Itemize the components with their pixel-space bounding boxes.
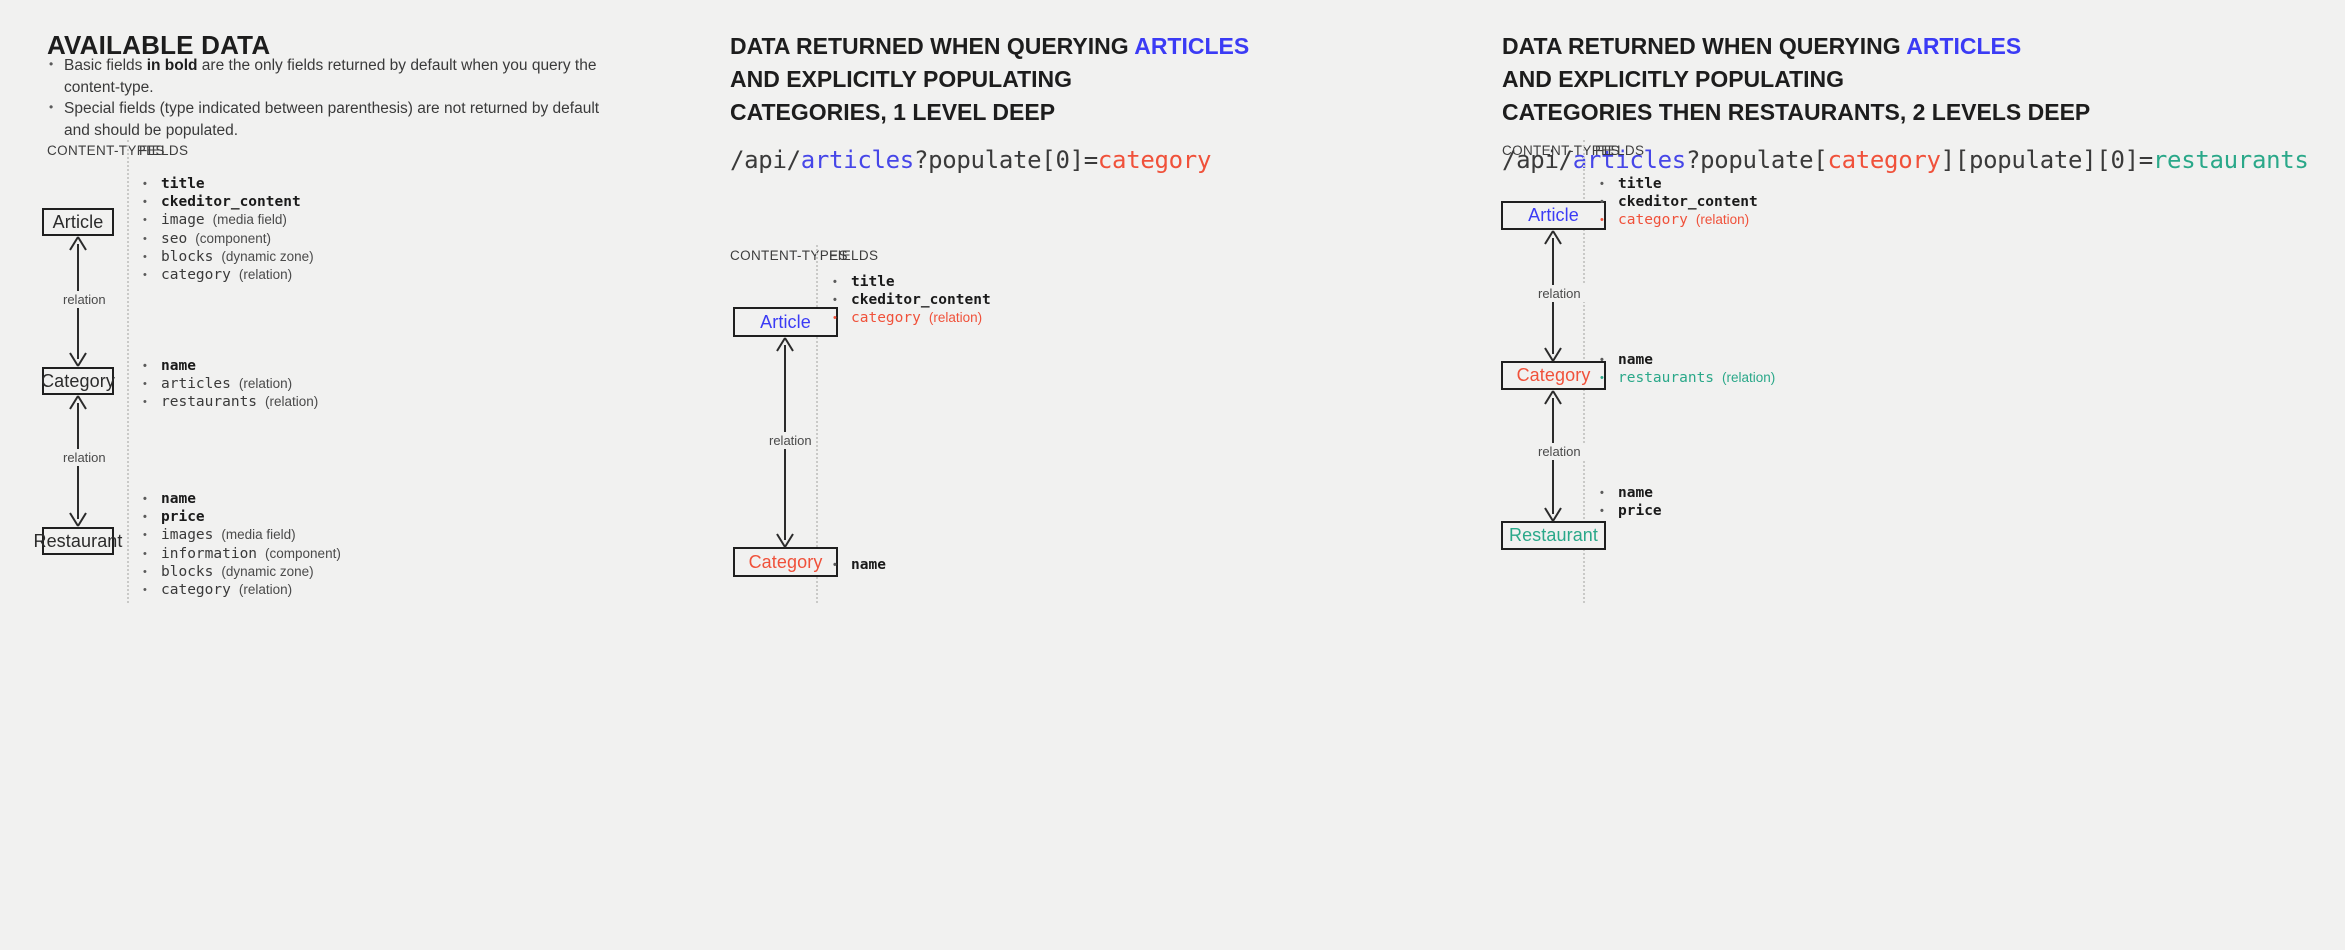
caption-fields: FIELDS [1595,143,1644,158]
field-row: name [1598,352,1775,370]
caption-fields: FIELDS [139,143,188,158]
heading-line-2: AND EXPLICITLY POPULATING [730,63,1249,96]
heading-line-3: CATEGORIES THEN RESTAURANTS, 2 LEVELS DE… [1502,96,2090,129]
entity-box-article[interactable]: Article [42,208,114,236]
field-row: images(media field) [141,527,341,545]
field-row: blocks(dynamic zone) [141,249,314,267]
intro-bullets: Basic fields in bold are the only fields… [47,55,647,141]
relation-label-1: relation [59,291,110,308]
entity-box-article[interactable]: Article [1501,201,1606,230]
field-row: ckeditor_content [831,292,991,310]
panel-query-2-levels: DATA RETURNED WHEN QUERYING ARTICLES AND… [1490,0,2345,950]
entity-box-category[interactable]: Category [42,367,114,395]
field-group-article: title ckeditor_content image(media field… [141,176,314,285]
heading-line-3: CATEGORIES, 1 LEVEL DEEP [730,96,1249,129]
field-row: ckeditor_content [1598,194,1758,212]
relation-label-2: relation [59,449,110,466]
intro-bullet-1-pre: Basic fields [64,57,147,74]
api-seg-base: /api/ [730,146,801,174]
entity-box-article[interactable]: Article [733,307,838,337]
field-row: price [1598,503,1662,521]
entity-box-category[interactable]: Category [1501,361,1606,390]
entity-box-category[interactable]: Category [733,547,838,577]
api-seg-populate-open: ?populate[ [1686,146,1828,174]
intro-bullet-1: Basic fields in bold are the only fields… [47,55,647,98]
field-row: information(component) [141,546,341,564]
diagram-canvas: AVAILABLE DATA Basic fields in bold are … [0,0,2345,950]
api-seg-populate: ?populate[0]= [914,146,1098,174]
field-group-restaurant: name price images(media field) informati… [141,491,341,600]
panel-query-1-level: DATA RETURNED WHEN QUERYING ARTICLES AND… [725,0,1445,950]
caption-fields: FIELDS [829,248,878,263]
field-row: category(relation) [141,267,314,285]
field-row: price [141,509,341,527]
field-group-category: name restaurants(relation) [1598,352,1775,388]
field-row: name [831,557,886,575]
field-row: articles(relation) [141,376,318,394]
relation-label-2: relation [1534,443,1585,460]
heading-highlight-articles: ARTICLES [1134,33,1249,59]
field-row: restaurants(relation) [1598,370,1775,388]
field-row: title [141,176,314,194]
api-seg-populate-nested: ][populate][0]= [1941,146,2153,174]
entity-box-restaurant[interactable]: Restaurant [1501,521,1606,550]
heading-line-1: DATA RETURNED WHEN QUERYING ARTICLES [730,30,1249,63]
field-row: restaurants(relation) [141,394,318,412]
heading-line-2: AND EXPLICITLY POPULATING [1502,63,2090,96]
field-row: category(relation) [141,582,341,600]
intro-bullet-2-text: Special fields (type indicated between p… [64,100,599,117]
relation-label-1: relation [1534,285,1585,302]
api-seg-category: category [1827,146,1940,174]
field-group-article: title ckeditor_content category(relation… [831,274,991,329]
heading-line-1: DATA RETURNED WHEN QUERYING ARTICLES [1502,30,2090,63]
api-seg-category: category [1098,146,1211,174]
field-row: image(media field) [141,212,314,230]
field-group-article: title ckeditor_content category(relation… [1598,176,1758,231]
field-row: name [1598,485,1662,503]
entity-box-restaurant[interactable]: Restaurant [42,527,114,555]
field-row: blocks(dynamic zone) [141,564,341,582]
intro-bullet-1-bold: in bold [147,57,198,74]
field-row: seo(component) [141,231,314,249]
api-url-1-level: /api/articles?populate[0]=category [730,146,1211,174]
field-row: name [141,358,318,376]
field-row: category(relation) [831,310,991,328]
field-group-restaurant: name price [1598,485,1662,521]
field-group-category: name articles(relation) restaurants(rela… [141,358,318,413]
field-row: title [831,274,991,292]
field-row: name [141,491,341,509]
panel-2-heading: DATA RETURNED WHEN QUERYING ARTICLES AND… [1502,30,2090,129]
field-row: ckeditor_content [141,194,314,212]
column-divider [127,140,130,603]
field-row: title [1598,176,1758,194]
panel-1-heading: DATA RETURNED WHEN QUERYING ARTICLES AND… [730,30,1249,129]
api-seg-articles: articles [801,146,914,174]
intro-bullet-2: Special fields (type indicated between p… [47,98,647,120]
api-seg-restaurants: restaurants [2153,146,2309,174]
field-row: category(relation) [1598,212,1758,230]
relation-label-1: relation [765,432,816,449]
heading-highlight-articles: ARTICLES [1906,33,2021,59]
intro-bullet-2-continuation: and should be populated. [47,120,647,142]
